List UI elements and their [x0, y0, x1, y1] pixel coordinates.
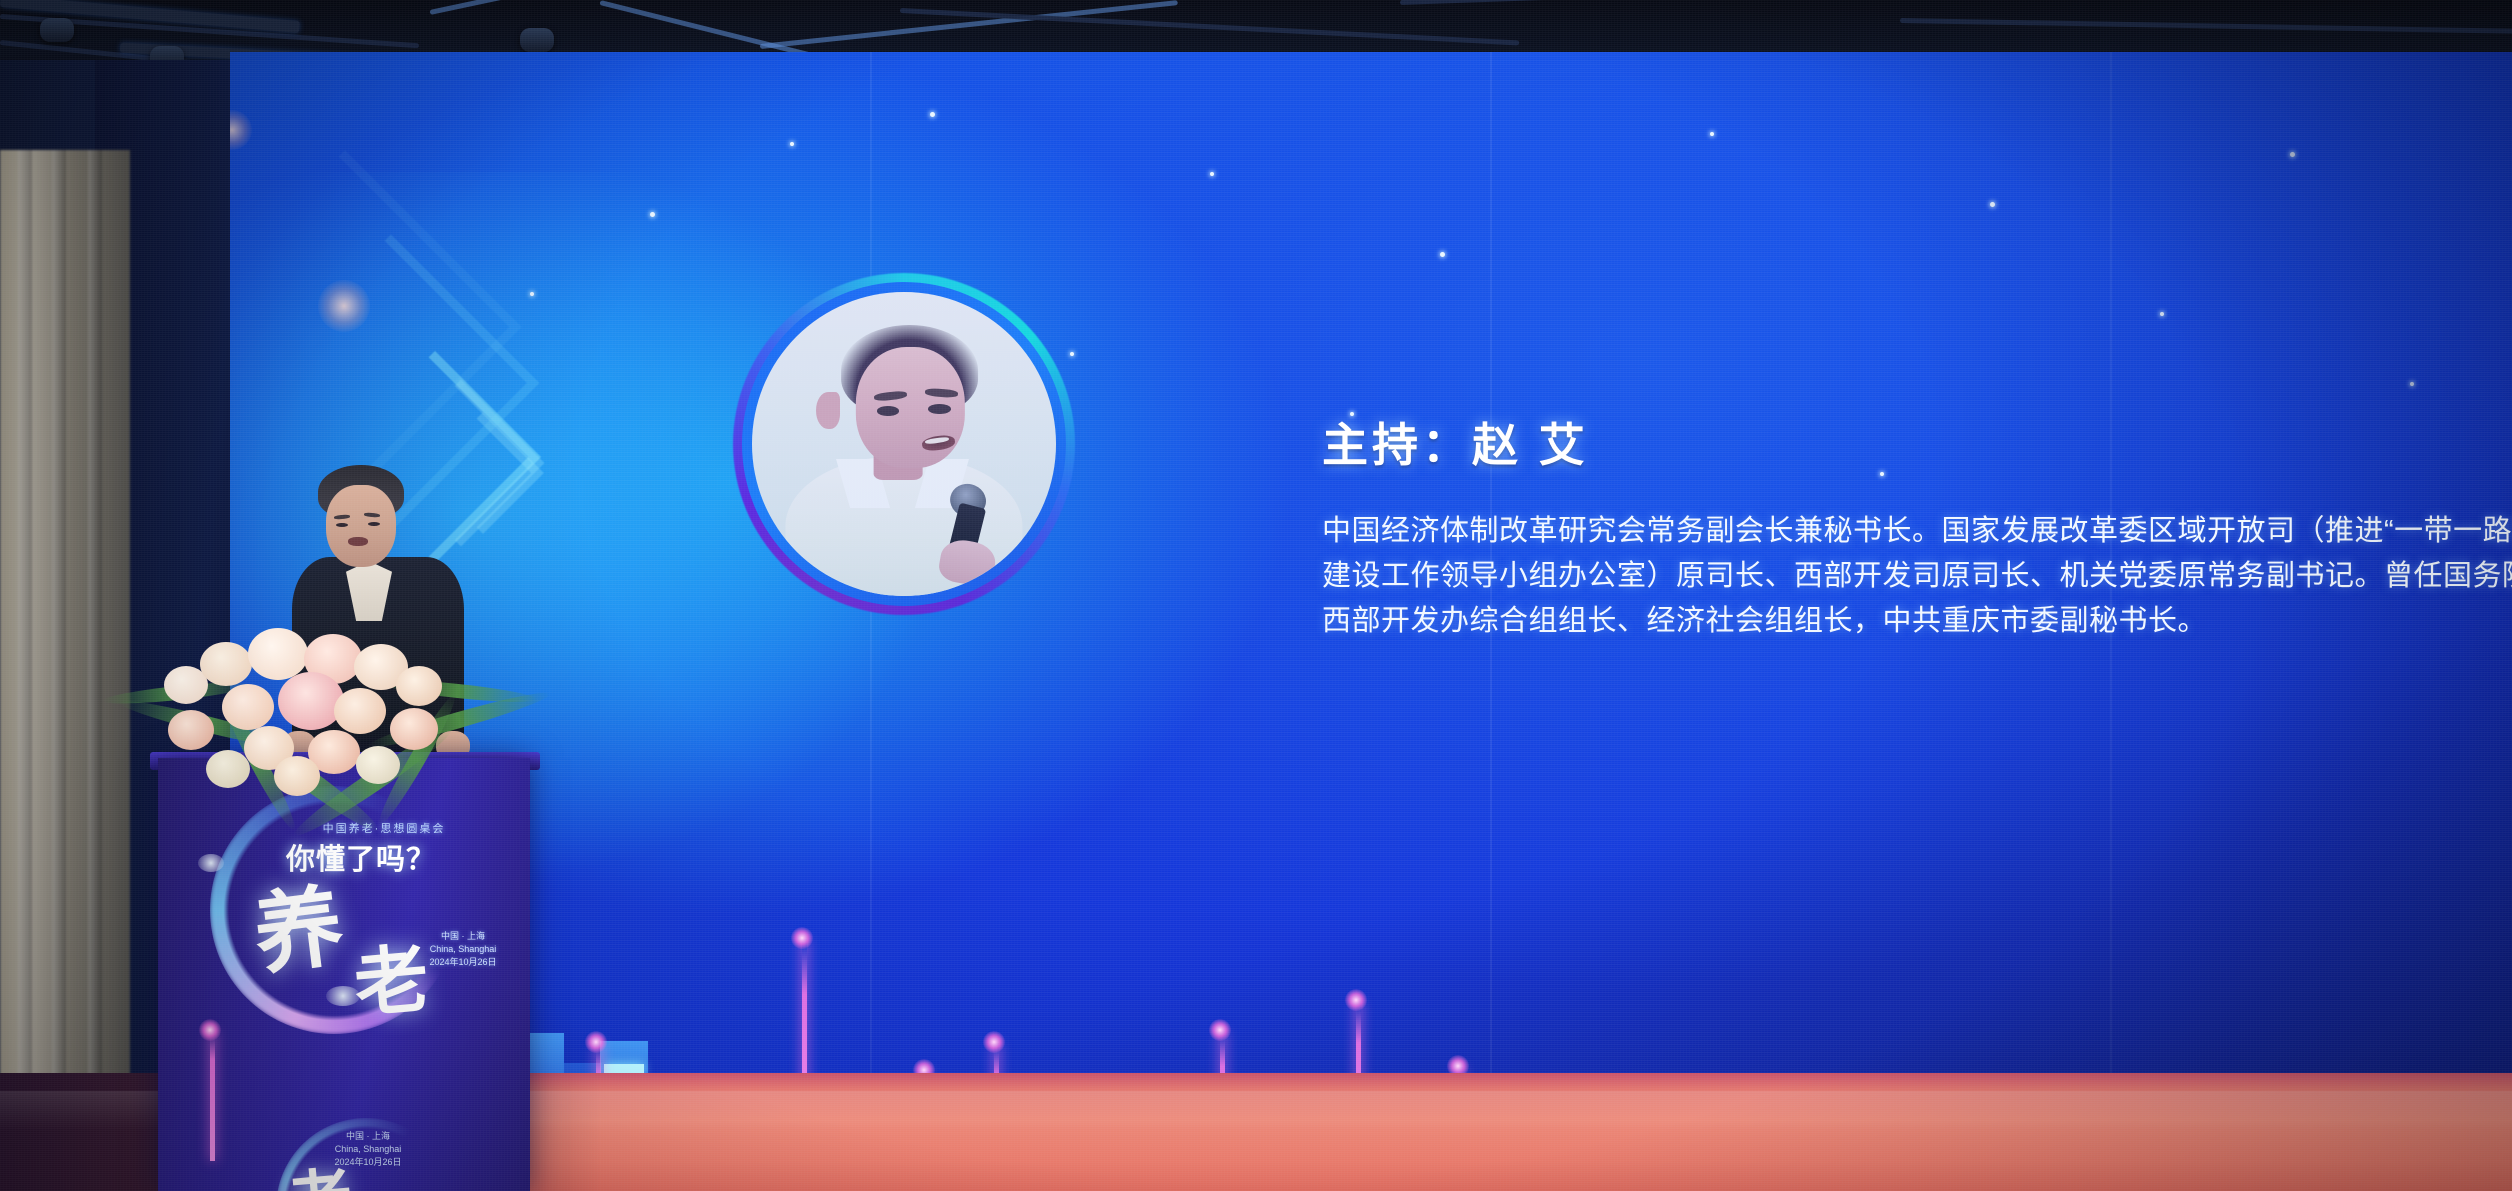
- stage-curtain: [0, 150, 130, 1191]
- conference-stage-photo: 主持：赵 艾 中国经济体制改革研究会常务副会长兼秘书长。国家发展改革委区域开放司…: [0, 0, 2512, 1191]
- spotlight-icon: [40, 18, 74, 42]
- podium-light-beam-top: [199, 1019, 221, 1041]
- podium-artwork: 中国养老·思想圆桌会 你懂了吗？ 养 老 中国 · 上海 China, Shan…: [158, 758, 530, 1191]
- star-icon: [2290, 152, 2295, 157]
- star-icon: [1350, 412, 1354, 416]
- page-title: 主持：赵 艾: [1322, 418, 2502, 473]
- spotlight-icon: [520, 28, 554, 52]
- podium: 中国养老·思想圆桌会 你懂了吗？ 养 老 中国 · 上海 China, Shan…: [158, 758, 530, 1191]
- podium-char-yang: 养: [247, 855, 350, 992]
- star-icon: [530, 292, 534, 296]
- podium-meta-cn: 中国 · 上海: [403, 930, 523, 943]
- star-icon: [1990, 202, 1995, 207]
- star-icon: [2410, 382, 2414, 386]
- flower-arrangement: [128, 600, 528, 820]
- star-icon: [1440, 252, 1445, 257]
- speaker-portrait: [733, 273, 1075, 615]
- speaker-bio: 中国经济体制改革研究会常务副会长兼秘书长。国家发展改革委区域开放司（推进“一带一…: [1322, 509, 2502, 644]
- bio-line-2: 建设工作领导小组办公室）原司长、西部开发司原司长、机关党委原常务副书记。曾任国务…: [1322, 554, 2502, 599]
- podium-char-lao-lower: 老: [282, 1145, 356, 1191]
- star-icon: [1210, 172, 1214, 176]
- bio-line-3: 西部开发办综合组组长、经济社会组组长，中共重庆市委副秘书长。: [1322, 599, 2502, 644]
- bokeh-light: [230, 110, 252, 150]
- star-icon: [930, 112, 935, 117]
- bokeh-light: [318, 280, 370, 332]
- podium-meta: 中国 · 上海 China, Shanghai 2024年10月26日: [403, 930, 523, 969]
- podium-light-beam: [210, 1031, 215, 1161]
- star-icon: [790, 142, 794, 146]
- star-icon: [650, 212, 655, 217]
- podium-lower-meta-cn: 中国 · 上海: [308, 1130, 428, 1143]
- star-icon: [2160, 312, 2164, 316]
- star-icon: [1710, 132, 1714, 136]
- avatar: [752, 292, 1056, 596]
- podium-meta-en: China, Shanghai: [403, 943, 523, 956]
- bio-line-1: 中国经济体制改革研究会常务副会长兼秘书长。国家发展改革委区域开放司（推进“一带一…: [1322, 509, 2502, 554]
- podium-meta-date: 2024年10月26日: [403, 956, 523, 969]
- speaker-info-block: 主持：赵 艾 中国经济体制改革研究会常务副会长兼秘书长。国家发展改革委区域开放司…: [1322, 418, 2502, 644]
